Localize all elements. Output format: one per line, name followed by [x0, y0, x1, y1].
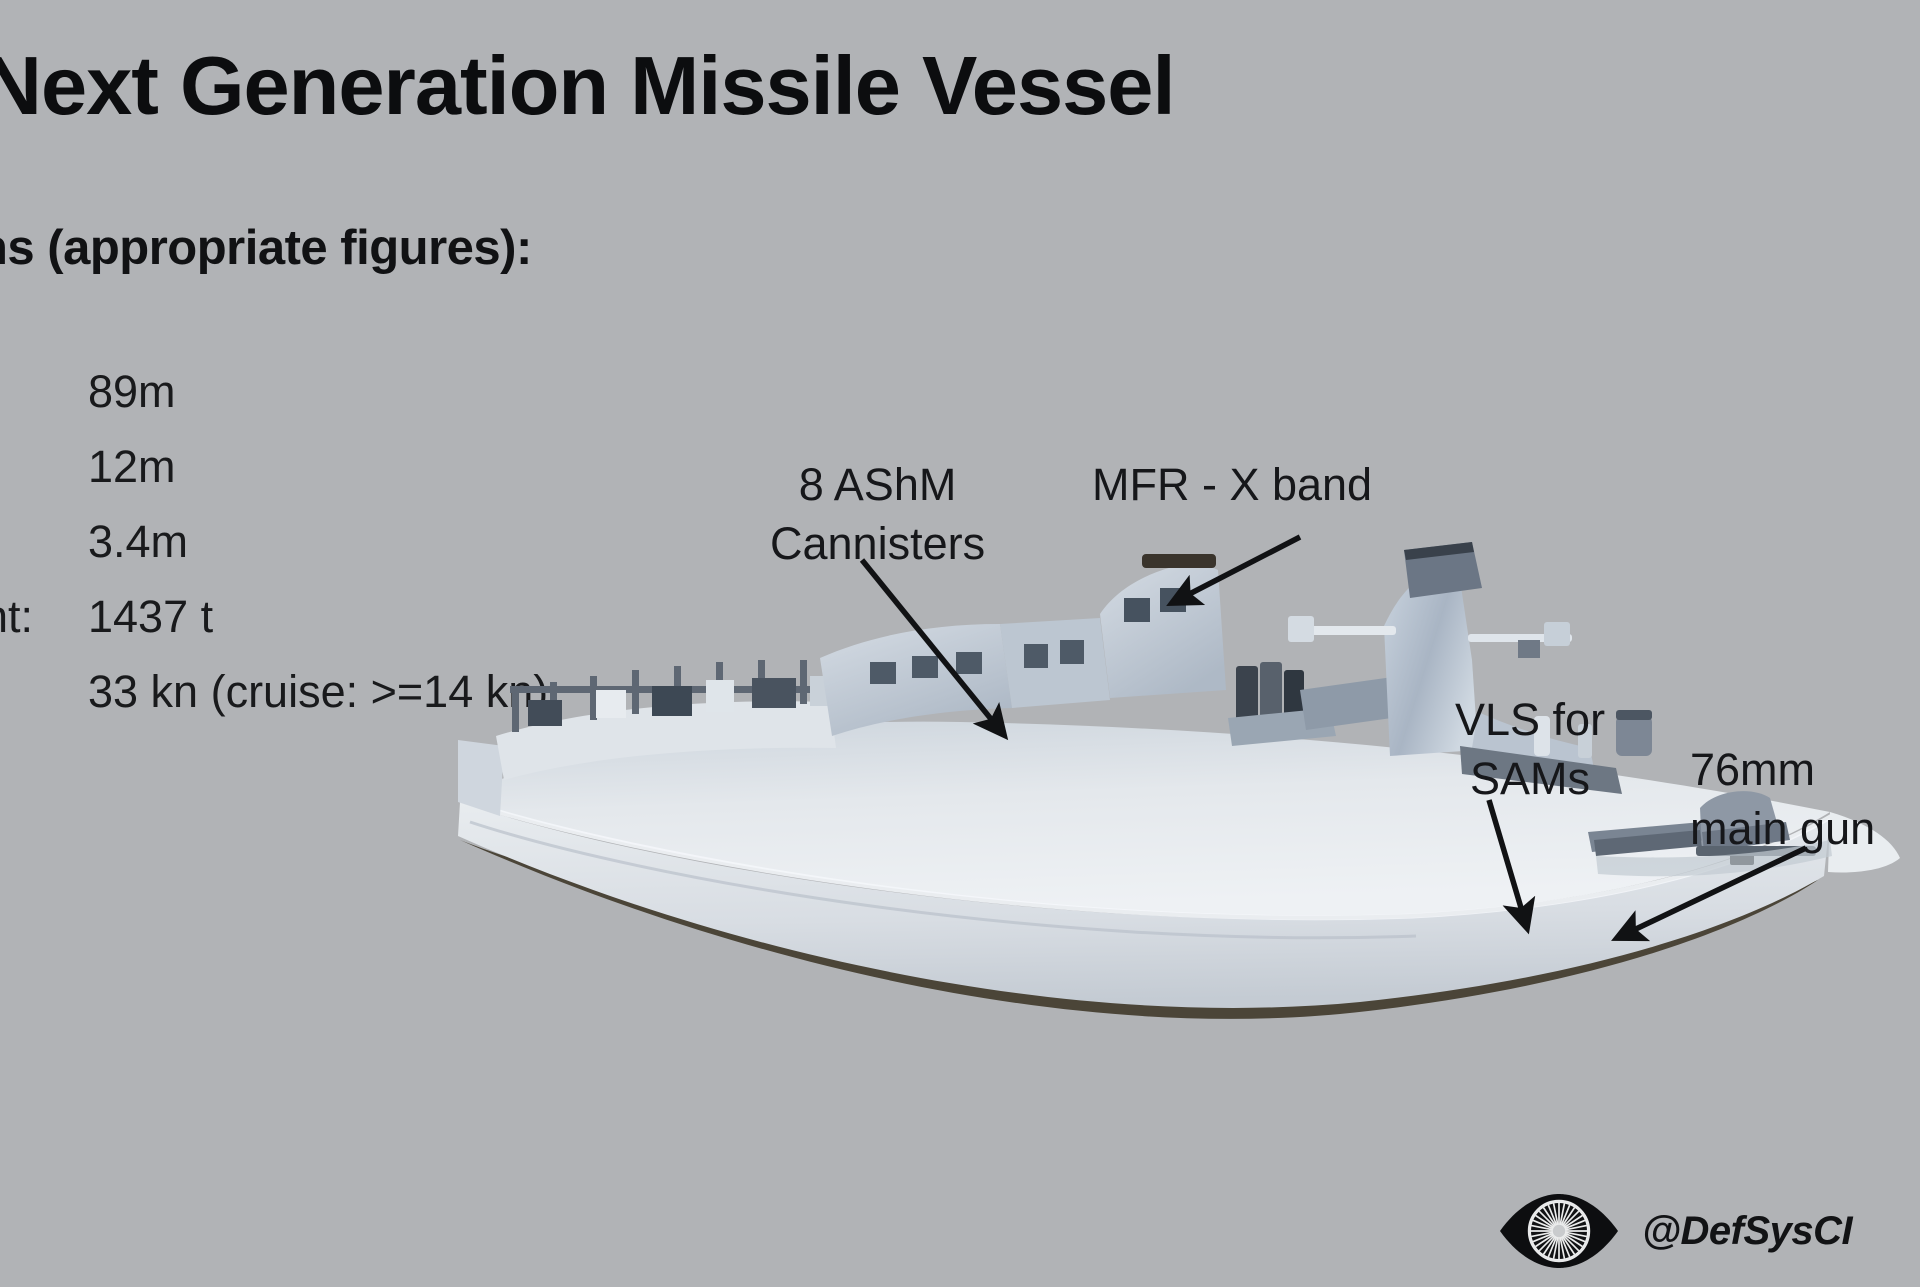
subtitle-specifications: ns (appropriate figures): [0, 220, 532, 276]
callout-line-1: VLS for [1455, 690, 1605, 749]
hangar-block [820, 624, 1012, 736]
spec-row: 89m [0, 366, 700, 441]
callout-main-gun: 76mm main gun [1690, 740, 1875, 859]
eye-ashoka-chakra-icon [1498, 1192, 1620, 1270]
callout-line-1: 76mm [1690, 740, 1875, 799]
callout-line-1: MFR - X band [1092, 455, 1372, 514]
spec-row: 12m [0, 441, 700, 516]
poster-canvas: Next Generation Missile Vessel ns (appro… [0, 0, 1920, 1287]
ashm-canisters [1228, 662, 1406, 746]
callout-line-2: SAMs [1455, 749, 1605, 808]
callout-line-2: Cannisters [770, 514, 985, 573]
watermark-handle: @DefSysCI [1642, 1209, 1852, 1254]
watermark: @DefSysCI [1498, 1192, 1852, 1270]
callout-mfr-x-band: MFR - X band [1092, 455, 1372, 514]
callout-line-2: main gun [1690, 799, 1875, 858]
spec-value-displacement: 1437 t [88, 591, 213, 643]
aft-superstructure [1000, 618, 1110, 708]
callout-vls-for-sams: VLS for SAMs [1455, 690, 1605, 809]
callout-line-1: 8 AShM [770, 455, 985, 514]
page-title: Next Generation Missile Vessel [0, 38, 1175, 134]
spec-value: 89m [88, 366, 176, 418]
bridge-block [1100, 562, 1226, 698]
funnel-cap [1142, 554, 1216, 568]
spec-value: 12m [88, 441, 176, 493]
spec-label-displacement: ent: [0, 591, 88, 643]
callout-ashm-cannisters: 8 AShM Cannisters [770, 455, 985, 574]
spec-value: 3.4m [88, 516, 188, 568]
